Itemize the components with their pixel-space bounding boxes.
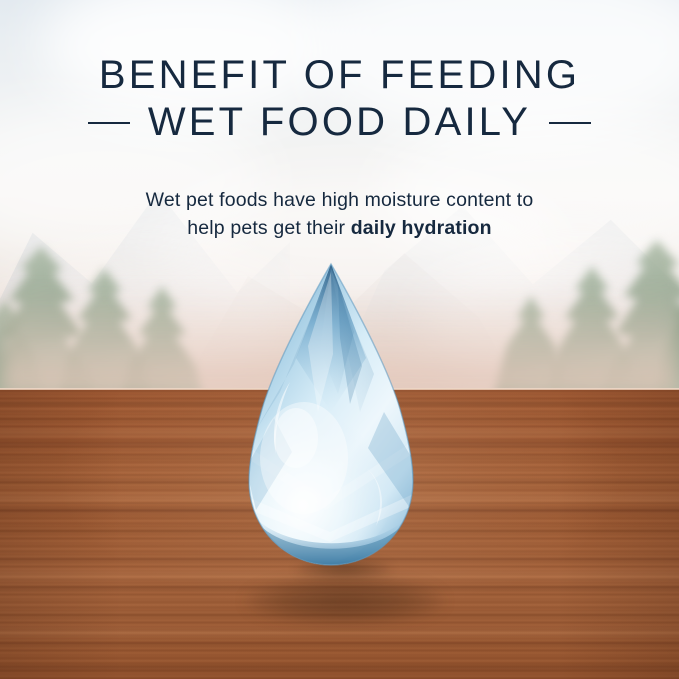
headline-line-1: BENEFIT OF FEEDING (0, 52, 679, 99)
headline-line-2-row: WET FOOD DAILY (0, 99, 679, 146)
promotional-banner: BENEFIT OF FEEDING WET FOOD DAILY Wet pe… (0, 0, 679, 679)
headline-line-2: WET FOOD DAILY (148, 99, 531, 146)
decorative-rule-left (88, 122, 130, 124)
subheadline-prefix: help pets get their (187, 217, 350, 239)
subheadline-emphasis: daily hydration (351, 217, 492, 239)
water-droplet-illustration (234, 262, 428, 568)
droplet-icon (234, 262, 428, 568)
subheadline-line-1: Wet pet foods have high moisture content… (0, 186, 679, 214)
headline: BENEFIT OF FEEDING WET FOOD DAILY (0, 52, 679, 146)
subheadline-line-2: help pets get their daily hydration (0, 214, 679, 242)
droplet-cast-shadow (246, 578, 444, 624)
subheadline: Wet pet foods have high moisture content… (0, 186, 679, 242)
decorative-rule-right (549, 122, 591, 124)
